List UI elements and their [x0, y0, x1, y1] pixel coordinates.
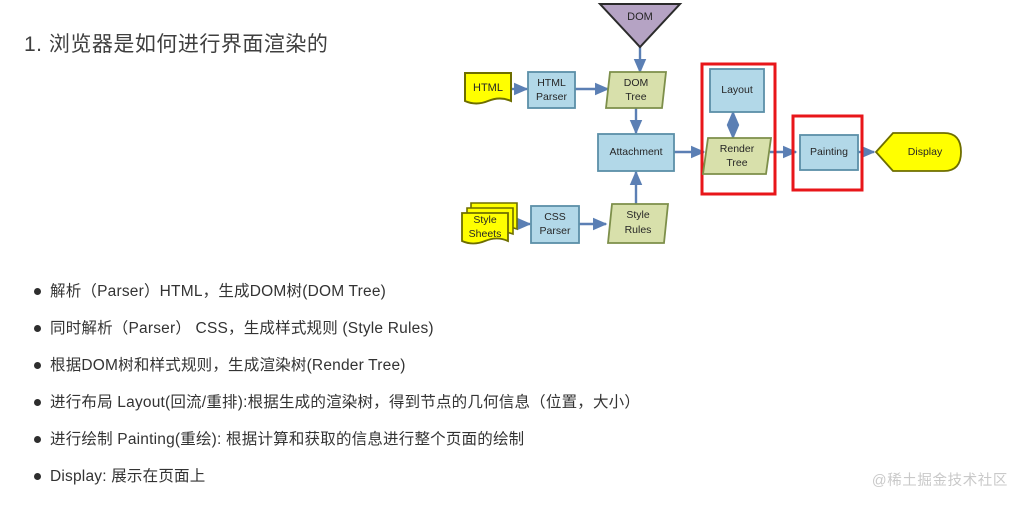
browser-rendering-flow-diagram: DOM HTML HTML Parser DOM Tree Attachment	[440, 0, 1026, 268]
node-html-parser[interactable]: HTML Parser	[528, 72, 575, 108]
node-style-sheets-label-2: Sheets	[469, 228, 502, 240]
list-item-label: 根据DOM树和样式规则，生成渲染树(Render Tree)	[50, 355, 406, 376]
bullet-dot-icon	[24, 281, 50, 302]
list-item: 同时解析（Parser） CSS，生成样式规则 (Style Rules)	[24, 318, 1004, 355]
node-painting[interactable]: Painting	[800, 135, 858, 170]
list-item: 解析（Parser）HTML，生成DOM树(DOM Tree)	[24, 281, 1004, 318]
node-dom-tree[interactable]: DOM Tree	[606, 72, 666, 108]
node-dom-tree-label-1: DOM	[624, 77, 649, 89]
node-style-rules-label-1: Style	[626, 209, 650, 221]
list-item-label: 进行布局 Layout(回流/重排):根据生成的渲染树，得到节点的几何信息（位置…	[50, 392, 640, 413]
node-display-label: Display	[908, 146, 943, 158]
watermark: @稀土掘金技术社区	[872, 469, 1008, 490]
list-item: 进行绘制 Painting(重绘): 根据计算和获取的信息进行整个页面的绘制	[24, 429, 1004, 466]
node-render-tree[interactable]: Render Tree	[703, 138, 771, 174]
node-css-parser-label-2: Parser	[540, 225, 571, 237]
list-item-label: 进行绘制 Painting(重绘): 根据计算和获取的信息进行整个页面的绘制	[50, 429, 524, 450]
bullet-dot-icon	[24, 392, 50, 413]
bullet-dot-icon	[24, 429, 50, 450]
list-item-label: 解析（Parser）HTML，生成DOM树(DOM Tree)	[50, 281, 386, 302]
node-style-rules[interactable]: Style Rules	[608, 204, 668, 243]
node-dom-tree-label-2: Tree	[625, 91, 646, 103]
node-dom-label: DOM	[627, 11, 653, 23]
bullet-list: 解析（Parser）HTML，生成DOM树(DOM Tree) 同时解析（Par…	[24, 281, 1004, 503]
node-layout-label: Layout	[721, 84, 753, 96]
node-style-rules-label-2: Rules	[625, 224, 652, 236]
node-style-sheets[interactable]: Style Sheets	[462, 203, 517, 244]
list-item: 进行布局 Layout(回流/重排):根据生成的渲染树，得到节点的几何信息（位置…	[24, 392, 1004, 429]
node-render-tree-label-2: Tree	[726, 157, 747, 169]
page-title: 1. 浏览器是如何进行界面渲染的	[24, 28, 328, 58]
node-dom[interactable]: DOM	[600, 4, 680, 47]
node-html[interactable]: HTML	[465, 73, 511, 104]
node-attachment[interactable]: Attachment	[598, 134, 674, 171]
node-painting-label: Painting	[810, 146, 848, 158]
node-attachment-label: Attachment	[609, 146, 662, 158]
node-css-parser[interactable]: CSS Parser	[531, 206, 579, 243]
node-html-label: HTML	[473, 82, 503, 94]
list-item-label: 同时解析（Parser） CSS，生成样式规则 (Style Rules)	[50, 318, 434, 339]
node-display[interactable]: Display	[876, 133, 961, 171]
bullet-dot-icon	[24, 466, 50, 487]
list-item-label: Display: 展示在页面上	[50, 466, 205, 487]
list-item: 根据DOM树和样式规则，生成渲染树(Render Tree)	[24, 355, 1004, 392]
list-item: Display: 展示在页面上	[24, 466, 1004, 503]
node-css-parser-label-1: CSS	[544, 211, 566, 223]
node-html-parser-label-1: HTML	[537, 77, 566, 89]
node-layout[interactable]: Layout	[710, 69, 764, 112]
bullet-dot-icon	[24, 355, 50, 376]
bullet-dot-icon	[24, 318, 50, 339]
node-render-tree-label-1: Render	[720, 143, 755, 155]
node-style-sheets-label-1: Style	[473, 214, 497, 226]
node-html-parser-label-2: Parser	[536, 91, 567, 103]
